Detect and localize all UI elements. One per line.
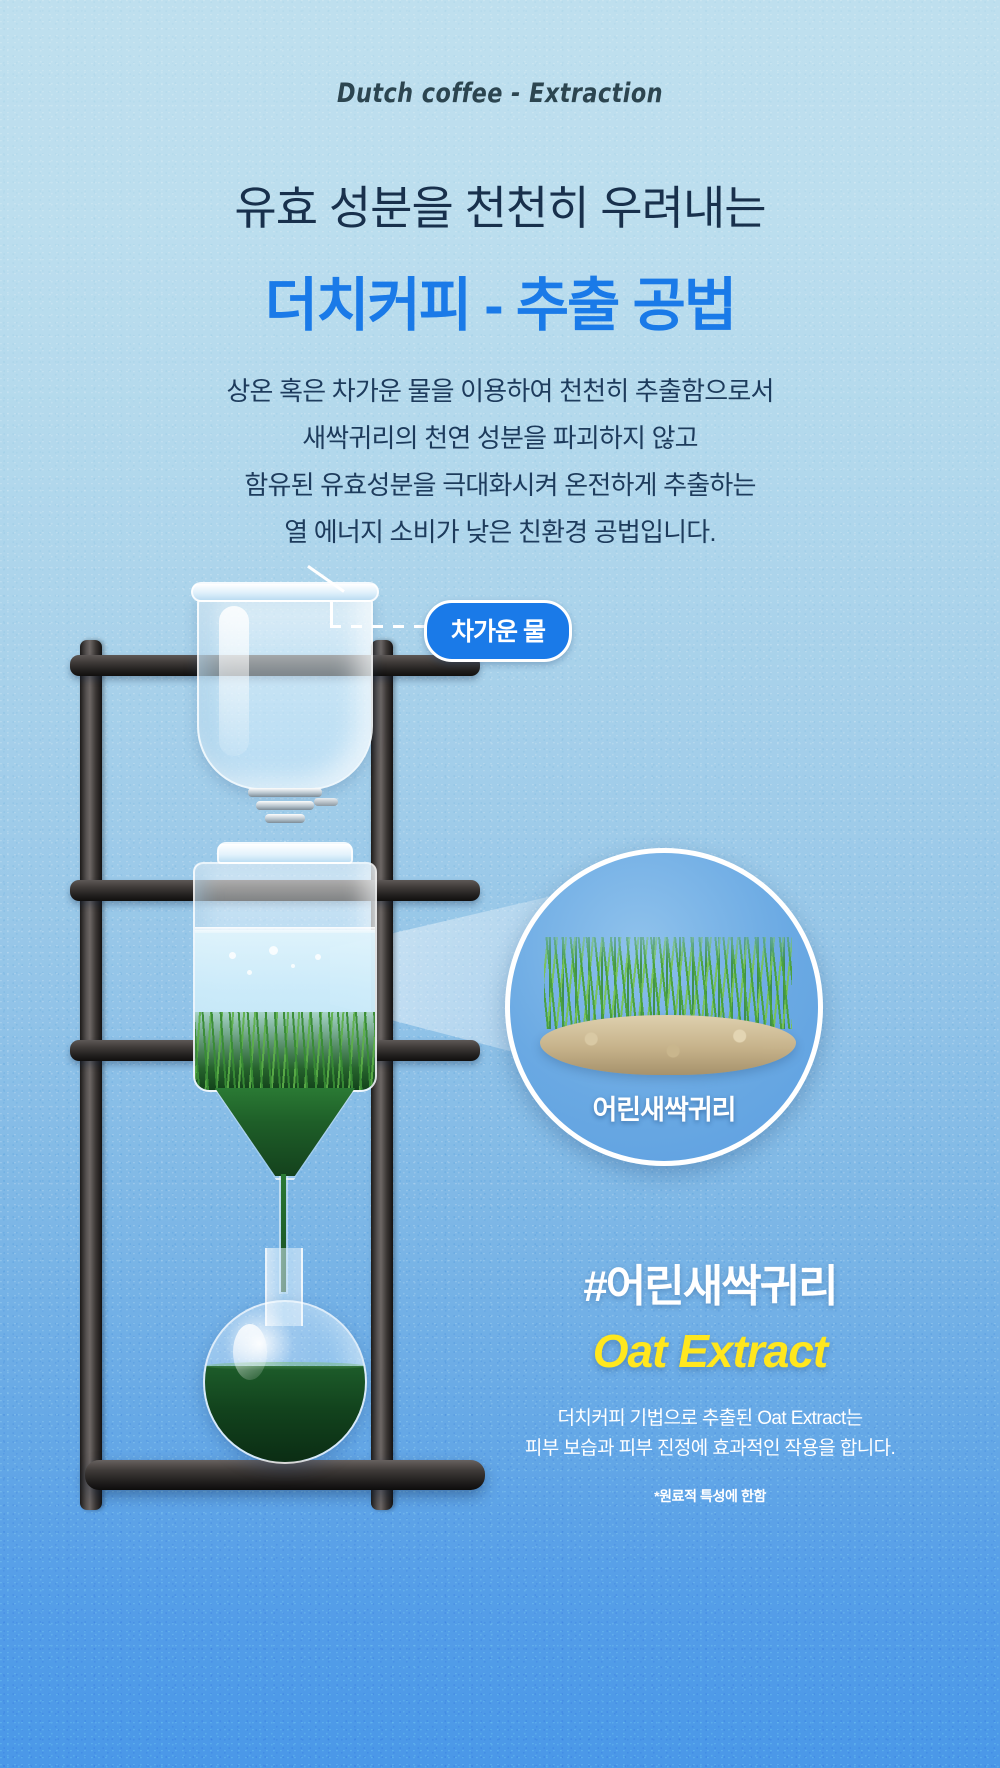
flask-extract-liquid: [205, 1366, 365, 1462]
bottom-info-block: #어린새싹귀리 Oat Extract 더치커피 기법으로 추출된 Oat Ex…: [450, 1250, 970, 1506]
callout-label: 어린새싹귀리: [510, 1088, 818, 1127]
valve-knob-icon: [314, 798, 338, 806]
bottom-description-line-1: 더치커피 기법으로 추출된 Oat Extract는: [450, 1404, 970, 1434]
frame-post-left: [80, 640, 102, 1510]
flask-highlight: [233, 1324, 267, 1380]
hashtag-title: #어린새싹귀리: [450, 1250, 970, 1314]
cold-water-badge: 차가운 물: [424, 600, 572, 662]
body-copy-line-3: 함유된 유효성분을 극대화시켜 온전하게 추출하는: [0, 462, 1000, 509]
body-copy: 상온 혹은 차가운 물을 이용하여 천천히 추출함으로서 새싹귀리의 천연 성분…: [0, 368, 1000, 556]
dutch-coffee-apparatus: [75, 640, 495, 1510]
bottom-description-line-2: 피부 보습과 피부 진정에 효과적인 작용을 합니다.: [450, 1434, 970, 1464]
body-copy-line-1: 상온 혹은 차가운 물을 이용하여 천천히 추출함으로서: [0, 368, 1000, 415]
badge-leader-dashes: [330, 625, 426, 628]
english-title: Oat Extract: [450, 1324, 970, 1378]
infographic-stage: Dutch coffee - Extraction 유효 성분을 천천히 우려내…: [0, 0, 1000, 1768]
oat-sprout-callout-circle: 어린새싹귀리: [505, 848, 823, 1166]
funnel-extract: [215, 1088, 355, 1176]
collection-flask: [203, 1300, 367, 1464]
water-chamber: [197, 590, 373, 790]
oat-sprout-seed-pad: [540, 1015, 796, 1075]
sprout-jar-neck: [217, 842, 353, 864]
disclaimer-note: *원료적 특성에 한함: [450, 1486, 970, 1506]
headline-main: 더치커피 - 추출 공법: [0, 258, 1000, 342]
jar-sprouts: [195, 1012, 375, 1090]
sprout-jar: [193, 862, 377, 1092]
body-copy-line-4: 열 에너지 소비가 낮은 친환경 공법입니다.: [0, 509, 1000, 556]
frame-base-rail: [85, 1460, 485, 1490]
headline-subtitle: 유효 성분을 천천히 우려내는: [0, 172, 1000, 238]
body-copy-line-2: 새싹귀리의 천연 성분을 파괴하지 않고: [0, 415, 1000, 462]
drip-valve: [248, 788, 322, 834]
badge-leader-hook: [330, 600, 333, 628]
water-chamber-lid: [191, 582, 379, 602]
bottom-description: 더치커피 기법으로 추출된 Oat Extract는 피부 보습과 피부 진정에…: [450, 1404, 970, 1464]
eyebrow-text: Dutch coffee - Extraction: [40, 78, 960, 109]
